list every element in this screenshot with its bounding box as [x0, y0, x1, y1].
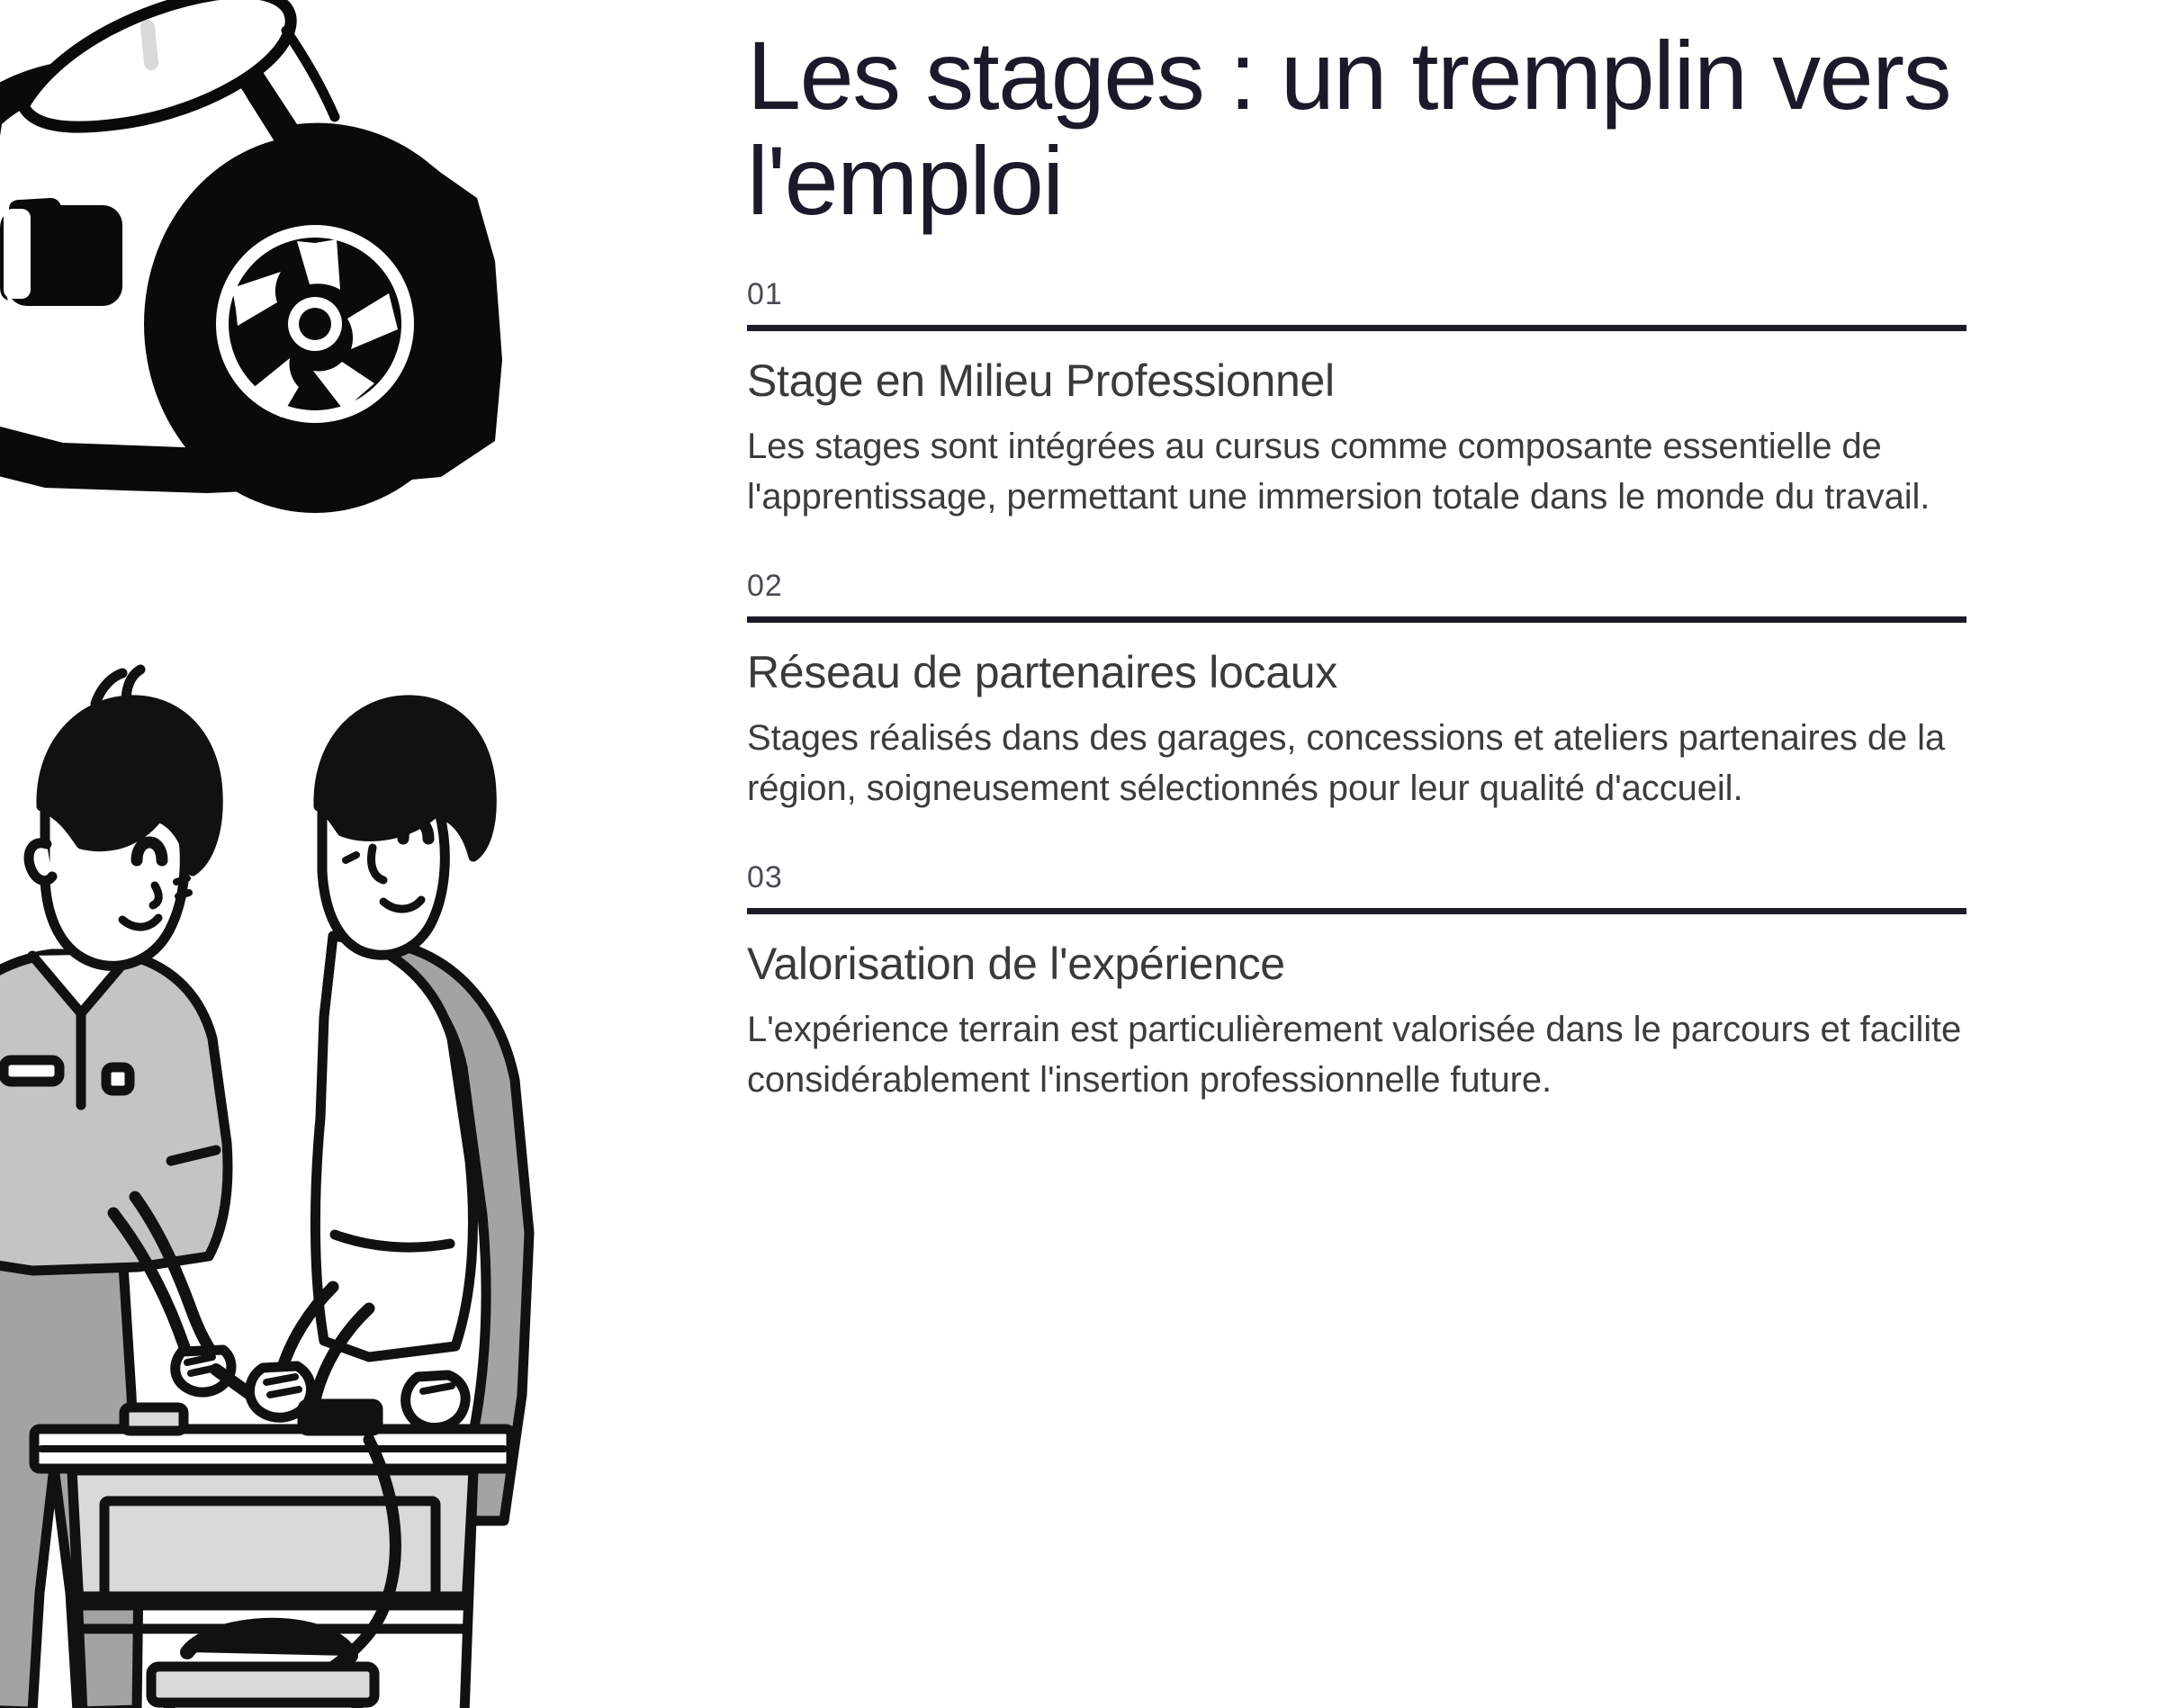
section-block-02: 02 Réseau de partenaires locaux Stages r… — [747, 570, 1966, 814]
section-heading-03: Valorisation de l'expérience — [747, 938, 1966, 990]
section-rule-02 — [747, 616, 1966, 623]
section-body-02: Stages réalisés dans des garages, conces… — [747, 713, 1966, 815]
section-rule-03 — [747, 908, 1966, 914]
section-rule-01 — [747, 325, 1966, 331]
section-number-01: 01 — [747, 278, 1966, 311]
mechanics-workbench-illustration — [0, 657, 594, 1708]
content-column: Les stages : un tremplin vers l'emploi 0… — [594, 0, 2160, 1708]
section-number-03: 03 — [747, 861, 1966, 894]
car-front-illustration — [0, 0, 567, 567]
section-block-01: 01 Stage en Milieu Professionnel Les sta… — [747, 278, 1966, 523]
section-heading-02: Réseau de partenaires locaux — [747, 646, 1966, 698]
section-body-01: Les stages sont intégrées au cursus comm… — [747, 421, 1966, 524]
page-title: Les stages : un tremplin vers l'emploi — [747, 23, 1966, 233]
section-number-02: 02 — [747, 570, 1966, 603]
sections-list: 01 Stage en Milieu Professionnel Les sta… — [747, 278, 1966, 1106]
section-body-03: L'expérience terrain est particulièremen… — [747, 1004, 1966, 1107]
slide-root: Les stages : un tremplin vers l'emploi 0… — [0, 0, 2160, 1708]
section-block-03: 03 Valorisation de l'expérience L'expéri… — [747, 861, 1966, 1106]
section-heading-01: Stage en Milieu Professionnel — [747, 355, 1966, 407]
illustration-column — [0, 0, 594, 1708]
